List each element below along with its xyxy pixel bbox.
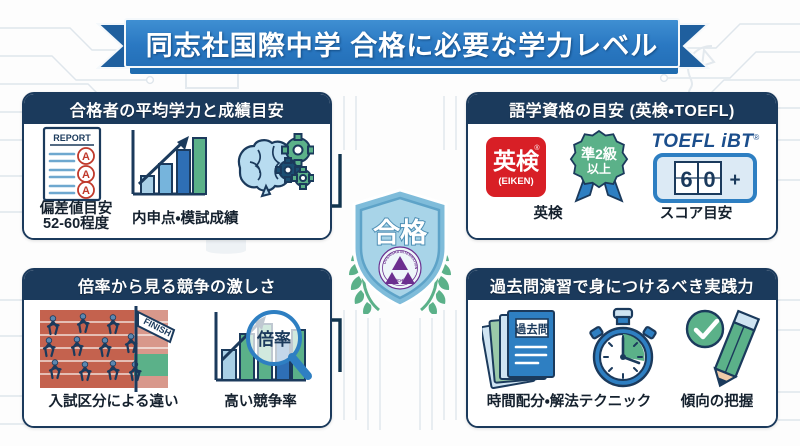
panel-body: REPORT A A A [24, 124, 330, 238]
score-plus: + [730, 170, 741, 191]
panel-header-competition-ratio: 倍率から見る競争の激しさ [24, 270, 330, 300]
svg-text:A: A [82, 185, 90, 197]
svg-text:REPORT: REPORT [54, 133, 92, 143]
panel-body: 英検 (EIKEN) ® 準2級 以上 TOEFL iBT ® [468, 124, 776, 238]
stopwatch-icon [583, 307, 663, 391]
report-card-icon: REPORT A A A [40, 126, 104, 202]
panel-body: 過去問 [468, 300, 776, 426]
magnifier-chart-icon: 倍率 [206, 304, 316, 394]
toefl-wordmark: TOEFL iBT [651, 131, 753, 153]
toefl-score-icon: TOEFL iBT ® 6 0 + [651, 131, 759, 203]
panel-competition-ratio: 倍率から見る競争の激しさ [22, 268, 332, 428]
center-pass-badge: 合格 DOSHISHA INTERNATIONAL SCHOOL [340, 186, 460, 314]
runners-race-icon: FINISH [38, 304, 190, 394]
score-display-icon: 6 0 + [653, 153, 757, 203]
eiken-logo-icon: 英検 (EIKEN) ® [485, 136, 547, 198]
caption-internal-score: 内申点・模試成績 [132, 211, 238, 227]
svg-text:A: A [82, 151, 90, 163]
panel-body: FINISH 倍率 [24, 300, 330, 426]
title-banner: 同志社国際中学 合格に必要な学力レベル [96, 12, 710, 80]
magnifier-label: 倍率 [256, 329, 291, 349]
panel-past-exam-practice: 過去問演習で身につけるべき実践力 過去問 [466, 268, 778, 428]
rosette-badge-icon: 準2級 以上 [568, 129, 630, 205]
svg-text:英検: 英検 [493, 148, 540, 174]
svg-text:(EIKEN): (EIKEN) [498, 176, 533, 187]
caption-deviation-value: 偏差値目安 52-60程度 [40, 202, 113, 232]
toefl-trademark: ® [753, 133, 759, 142]
check-pencil-icon [678, 307, 762, 391]
panel-header-past-exam-practice: 過去問演習で身につけるべき実践力 [468, 270, 776, 300]
rosette-line-1: 準2級 [581, 146, 618, 162]
bar-chart-growth-icon [125, 126, 209, 202]
rosette-line-2: 以上 [587, 161, 611, 176]
book-cover-label: 過去問 [514, 322, 549, 336]
panel-title: 合格者の平均学力と成績目安 [70, 97, 285, 121]
page-title: 同志社国際中学 合格に必要な学力レベル [146, 24, 659, 63]
brain-gears-icon [230, 132, 314, 202]
caption-score-guide: スコア目安 [631, 206, 761, 222]
svg-text:®: ® [534, 144, 540, 152]
score-digit-1: 6 [681, 167, 693, 192]
panel-title: 過去問演習で身につけるべき実践力 [490, 273, 754, 297]
caption-eiken: 英検 [483, 206, 613, 222]
panel-title: 語学資格の目安 (英検・TOEFL) [509, 97, 735, 121]
caption-line: 52-60程度 [40, 217, 113, 232]
panel-header-average-ability: 合格者の平均学力と成績目安 [24, 94, 330, 124]
caption-line: 偏差値目安 [40, 202, 113, 217]
score-digit-2: 0 [704, 167, 716, 192]
panel-title: 倍率から見る競争の激しさ [78, 273, 276, 297]
banner-plate: 同志社国際中学 合格に必要な学力レベル [124, 18, 680, 68]
panel-average-ability: 合格者の平均学力と成績目安 REPORT A [22, 92, 332, 240]
infographic-canvas: 同志社国際中学 合格に必要な学力レベル 合格者の平均学力と成績目安 REPORT [0, 0, 800, 446]
svg-text:A: A [82, 169, 90, 181]
caption-trend-grasp: 傾向の把握 [665, 394, 769, 410]
panel-header-language-qualification: 語学資格の目安 (英検・TOEFL) [468, 94, 776, 124]
caption-high-competition: 高い競争率 [206, 394, 316, 410]
panel-language-qualification: 語学資格の目安 (英検・TOEFL) 英検 (EIKEN) ® 準2級 以上 [466, 92, 778, 240]
caption-time-allocation-technique: 時間配分・解法テクニック [475, 394, 663, 410]
caption-exam-category-difference: 入試区分による違い [39, 394, 189, 410]
past-exam-books-icon: 過去問 [482, 307, 568, 391]
badge-text: 合格 [373, 218, 428, 248]
